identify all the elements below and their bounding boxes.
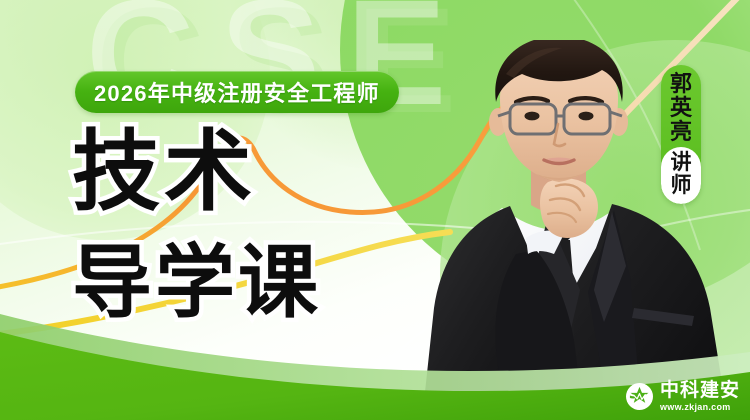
brand-url: www.zkjan.com xyxy=(660,403,740,412)
course-name-badge: 2026年中级注册安全工程师 xyxy=(75,71,399,113)
instructor-name-char-3: 亮 xyxy=(670,120,692,144)
instructor-role: 讲 师 xyxy=(671,151,692,197)
page-title: 技术 xyxy=(72,128,256,216)
instructor-badge: 郭 英 亮 讲 师 xyxy=(661,65,701,204)
instructor-role-char-1: 讲 xyxy=(671,151,692,174)
instructor-role-char-2: 师 xyxy=(671,174,692,197)
instructor-name-char-1: 郭 xyxy=(670,72,692,96)
instructor-role-container: 讲 师 xyxy=(661,147,701,204)
brand-name: 中科建安 xyxy=(660,381,740,400)
star-swoosh-icon xyxy=(626,383,653,410)
instructor-name: 郭 英 亮 xyxy=(670,65,692,147)
instructor-name-char-2: 英 xyxy=(670,96,692,120)
brand-logo: 中科建安 www.zkjan.com xyxy=(626,381,740,412)
page-subtitle: 导学课 xyxy=(72,243,321,323)
course-poster: CSE CSE xyxy=(0,0,750,420)
star-swoosh-glyph xyxy=(628,385,651,408)
brand-text: 中科建安 www.zkjan.com xyxy=(660,381,740,412)
